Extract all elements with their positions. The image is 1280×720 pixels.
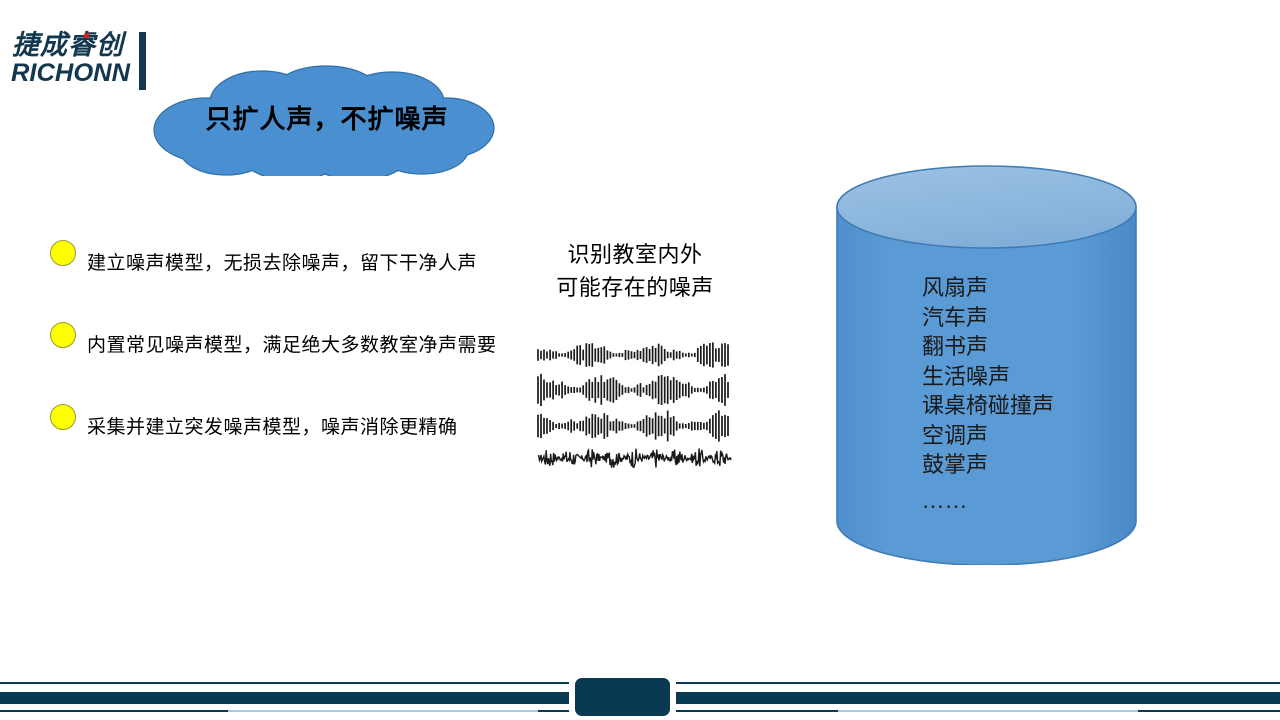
list-item: 翻书声 (922, 332, 1054, 362)
list-ellipsis: …… (922, 486, 1054, 516)
noise-database-cylinder: 风扇声 汽车声 翻书声 生活噪声 课桌椅碰撞声 空调声 鼓掌声 …… (834, 163, 1139, 565)
list-item: 建立噪声模型，无损去除噪声，留下干净人声 (50, 236, 520, 292)
bullet-text: 建立噪声模型，无损去除噪声，留下干净人声 (87, 236, 477, 292)
feature-bullet-list: 建立噪声模型，无损去除噪声，留下干净人声 内置常见噪声模型，满足绝大多数教室净声… (50, 236, 520, 482)
list-item: 生活噪声 (922, 362, 1054, 392)
cloud-callout: 只扩人声，不扩噪声 (140, 58, 500, 176)
center-caption-line-2: 可能存在的噪声 (520, 271, 750, 304)
footer-accent-segment (838, 710, 1138, 712)
footer-center-badge (575, 678, 670, 716)
bullet-marker-icon (50, 240, 76, 266)
list-item: 采集并建立突发噪声模型，噪声消除更精确 (50, 400, 520, 456)
cloud-callout-text: 只扩人声，不扩噪声 (140, 58, 500, 176)
bullet-marker-icon (50, 404, 76, 430)
noise-type-list: 风扇声 汽车声 翻书声 生活噪声 课桌椅碰撞声 空调声 鼓掌声 …… (922, 273, 1054, 515)
footer-decoration (0, 660, 1280, 720)
logo-chinese-name: 捷成睿创 (12, 30, 124, 60)
list-item: 鼓掌声 (922, 450, 1054, 480)
list-item: 风扇声 (922, 273, 1054, 303)
audio-waveform-icon (537, 340, 732, 468)
center-caption: 识别教室内外 可能存在的噪声 (520, 238, 750, 304)
list-item: 课桌椅碰撞声 (922, 391, 1054, 421)
bullet-text: 内置常见噪声模型，满足绝大多数教室净声需要 (87, 318, 497, 374)
list-item: 内置常见噪声模型，满足绝大多数教室净声需要 (50, 318, 520, 374)
footer-accent-segment (228, 710, 538, 712)
logo-english-name: RICHONN (11, 59, 130, 87)
list-item: 空调声 (922, 421, 1054, 451)
company-logo: 捷成睿创 RICHONN (8, 30, 158, 92)
list-item: 汽车声 (922, 303, 1054, 333)
center-caption-line-1: 识别教室内外 (520, 238, 750, 271)
bullet-text: 采集并建立突发噪声模型，噪声消除更精确 (87, 400, 458, 456)
bullet-marker-icon (50, 322, 76, 348)
center-illustration-block: 识别教室内外 可能存在的噪声 (520, 238, 750, 468)
logo-accent-dot (83, 33, 89, 38)
